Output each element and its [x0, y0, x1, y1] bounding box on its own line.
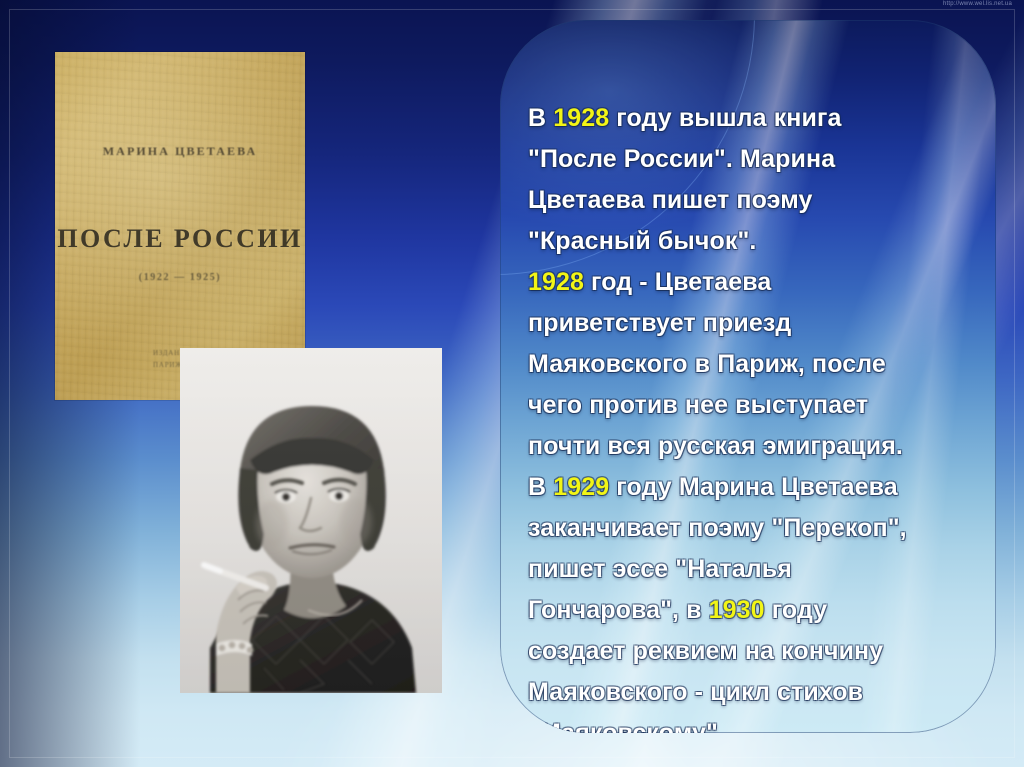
portrait-illustration [180, 348, 442, 693]
year-highlight: 1929 [553, 473, 609, 501]
year-highlight: 1928 [553, 104, 609, 132]
slide-body-text: В 1928 году вышла книга"После России". М… [528, 98, 982, 733]
watermark-url: http://www.wel.lis.net.ua [943, 1, 1012, 7]
text-segment: Маяковского - цикл стихов [528, 678, 863, 706]
book-cover-author: МАРИНА ЦВЕТАЕВА [55, 144, 305, 159]
text-segment: заканчивает поэму "Перекоп", [528, 514, 907, 542]
text-line-l9: почти вся русская эмиграция. [528, 426, 982, 467]
text-segment: Цветаева пишет поэму [528, 186, 812, 214]
text-line-l10: В 1929 году Марина Цветаева [528, 467, 982, 508]
slide-text-panel: В 1928 году вышла книга"После России". М… [500, 20, 996, 733]
text-line-l1: В 1928 году вышла книга [528, 98, 982, 139]
text-line-l14: создает реквием на кончину [528, 631, 982, 672]
text-line-l7: Маяковского в Париж, после [528, 344, 982, 385]
text-segment: Маяковского в Париж, после [528, 350, 886, 378]
year-highlight: 1930 [709, 596, 765, 624]
text-segment: Гончарова", в [528, 596, 709, 624]
text-line-l6: приветствует приезд [528, 303, 982, 344]
text-segment: год - Цветаева [584, 268, 771, 296]
text-segment: "После России". Марина [528, 145, 835, 173]
text-line-l13: Гончарова", в 1930 году [528, 590, 982, 631]
text-line-l3: Цветаева пишет поэму [528, 180, 982, 221]
text-segment: В [528, 104, 553, 132]
text-segment: В [528, 473, 553, 501]
text-segment: году Марина Цветаева [609, 473, 898, 501]
text-segment: создает реквием на кончину [528, 637, 883, 665]
text-segment: "Маяковскому". [528, 719, 725, 733]
text-line-l4: "Красный бычок". [528, 221, 982, 262]
text-line-l15: Маяковского - цикл стихов [528, 672, 982, 713]
text-line-l16: "Маяковскому". [528, 713, 982, 733]
text-segment: чего против нее выступает [528, 391, 868, 419]
text-line-l2: "После России". Марина [528, 139, 982, 180]
book-cover-dates: (1922 — 1925) [55, 272, 305, 283]
text-line-l8: чего против нее выступает [528, 385, 982, 426]
text-segment: приветствует приезд [528, 309, 791, 337]
text-segment: пишет эссе "Наталья [528, 555, 792, 583]
text-segment: "Красный бычок". [528, 227, 756, 255]
text-line-l5: 1928 год - Цветаева [528, 262, 982, 303]
marina-tsvetaeva-portrait [180, 348, 442, 693]
text-line-l12: пишет эссе "Наталья [528, 549, 982, 590]
presentation-slide: http://www.wel.lis.net.ua МАРИНА ЦВЕТАЕВ… [0, 0, 1024, 767]
year-highlight: 1928 [528, 268, 584, 296]
text-segment: году вышла книга [609, 104, 841, 132]
text-line-l11: заканчивает поэму "Перекоп", [528, 508, 982, 549]
book-cover-title: ПОСЛЕ РОССИИ [55, 224, 305, 254]
text-segment: году [765, 596, 828, 624]
text-segment: почти вся русская эмиграция. [528, 432, 903, 460]
